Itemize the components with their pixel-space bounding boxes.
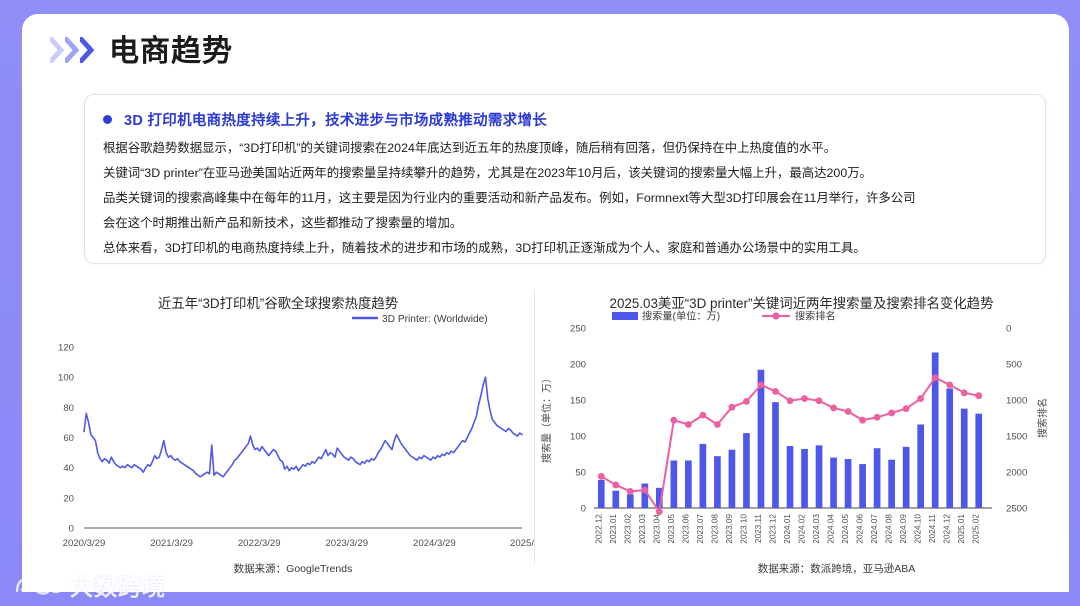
svg-text:2023.01: 2023.01 (609, 514, 618, 544)
insight-paragraph: 根据谷歌趋势数据显示，“3D打印机”的关键词搜索在2024年底达到近五年的热度顶… (103, 136, 1029, 161)
svg-text:2023.06: 2023.06 (681, 514, 690, 544)
triple-chevron-right-icon (50, 37, 95, 63)
bullet-dot-icon (103, 115, 112, 124)
svg-text:2023.04: 2023.04 (652, 514, 661, 544)
svg-text:2023.09: 2023.09 (725, 514, 734, 544)
svg-text:2023.10: 2023.10 (739, 514, 748, 544)
svg-text:1500: 1500 (1006, 432, 1027, 443)
svg-text:60: 60 (63, 433, 74, 444)
amazon-aba-combo-chart: 2025.03美亚“3D printer”关键词近两年搜索量及搜索排名变化趋势 … (534, 272, 1069, 592)
svg-text:40: 40 (63, 463, 74, 474)
svg-text:2025.01: 2025.01 (957, 514, 966, 544)
svg-text:2023.02: 2023.02 (623, 514, 632, 544)
svg-text:3D Printer: (Worldwide): 3D Printer: (Worldwide) (382, 314, 488, 325)
svg-text:1000: 1000 (1006, 396, 1027, 407)
content-card: 电商趋势 3D 打印机电商热度持续上升，技术进步与市场成熟推动需求增长 根据谷歌… (22, 14, 1069, 592)
svg-text:搜索排名: 搜索排名 (1036, 398, 1049, 438)
svg-text:2023.08: 2023.08 (710, 514, 719, 544)
svg-text:100: 100 (570, 432, 586, 443)
svg-text:搜索量(单位：万): 搜索量(单位：万) (642, 310, 720, 323)
insight-paragraph: 关键词“3D printer”在亚马逊美国站近两年的搜索量呈持续攀升的趋势，尤其… (103, 161, 1029, 186)
svg-text:0: 0 (1006, 324, 1011, 335)
insight-heading-row: 3D 打印机电商热度持续上升，技术进步与市场成熟推动需求增长 (103, 109, 1029, 130)
svg-text:80: 80 (63, 403, 74, 414)
svg-text:2022/3/29: 2022/3/29 (238, 538, 281, 549)
svg-text:200: 200 (570, 360, 586, 371)
svg-text:2023/3/29: 2023/3/29 (325, 538, 368, 549)
svg-text:100: 100 (58, 373, 74, 384)
right-chart-source: 数据来源：数派跨境，亚马逊ABA (534, 561, 1069, 576)
svg-text:2024.02: 2024.02 (798, 514, 807, 544)
svg-text:2500: 2500 (1006, 504, 1027, 515)
svg-text:2025.02: 2025.02 (972, 514, 981, 544)
svg-text:2020/3/29: 2020/3/29 (63, 538, 106, 549)
left-chart-canvas: 0204060801001202020/3/292021/3/292022/3/… (22, 306, 534, 586)
svg-text:20: 20 (63, 493, 74, 504)
logo-icon (12, 570, 64, 600)
google-trends-line-chart: 近五年“3D打印机”谷歌全球搜索热度趋势 0204060801001202020… (22, 272, 534, 592)
svg-text:0: 0 (581, 504, 586, 515)
svg-text:2024.10: 2024.10 (914, 514, 923, 544)
svg-text:2024/3/29: 2024/3/29 (413, 538, 456, 549)
charts-region: 近五年“3D打印机”谷歌全球搜索热度趋势 0204060801001202020… (22, 272, 1069, 592)
svg-text:2024.03: 2024.03 (812, 514, 821, 544)
svg-text:2021/3/29: 2021/3/29 (150, 538, 193, 549)
insight-paragraph: 品类关键词的搜索高峰集中在每年的11月，这主要是因为行业内的重要活动和新产品发布… (103, 186, 1029, 211)
page-title: 电商趋势 (109, 26, 233, 70)
svg-text:2024.09: 2024.09 (899, 514, 908, 544)
svg-text:2023.07: 2023.07 (696, 514, 705, 544)
svg-text:2023.11: 2023.11 (754, 514, 763, 543)
svg-text:2023.03: 2023.03 (638, 514, 647, 544)
insight-paragraph: 总体来看，3D打印机的电商热度持续上升，随着技术的进步和市场的成熟，3D打印机正… (103, 236, 1029, 261)
svg-text:2023.12: 2023.12 (769, 514, 778, 544)
svg-text:2000: 2000 (1006, 468, 1027, 479)
svg-text:50: 50 (575, 468, 586, 479)
insight-paragraph: 会在这个时期推出新产品和新技术，这些都推动了搜索量的增加。 (103, 211, 1029, 236)
svg-text:120: 120 (58, 343, 74, 354)
right-chart-canvas: 05010015020025005001000150020002500搜索量（单… (534, 306, 1069, 592)
svg-text:搜索量（单位：万）: 搜索量（单位：万） (540, 373, 553, 463)
svg-text:2024.08: 2024.08 (885, 514, 894, 544)
svg-text:2023.05: 2023.05 (667, 514, 676, 544)
watermark-text: 大数跨境 (70, 568, 166, 602)
svg-text:搜索排名: 搜索排名 (795, 310, 836, 323)
insight-panel: 3D 打印机电商热度持续上升，技术进步与市场成熟推动需求增长 根据谷歌趋势数据显… (84, 94, 1046, 264)
svg-text:250: 250 (570, 324, 586, 335)
page-header: 电商趋势 (22, 14, 1069, 82)
svg-text:2024.04: 2024.04 (827, 514, 836, 544)
insight-heading: 3D 打印机电商热度持续上升，技术进步与市场成熟推动需求增长 (124, 109, 547, 130)
svg-text:500: 500 (1006, 360, 1022, 371)
svg-text:2024.06: 2024.06 (856, 514, 865, 544)
svg-text:2022.12: 2022.12 (594, 514, 603, 544)
svg-text:2024.11: 2024.11 (928, 514, 937, 543)
svg-text:2024.05: 2024.05 (841, 514, 850, 544)
svg-text:0: 0 (69, 524, 74, 535)
svg-text:2025/: 2025/ (510, 538, 534, 549)
svg-text:150: 150 (570, 396, 586, 407)
slide-page: 电商趋势 3D 打印机电商热度持续上升，技术进步与市场成熟推动需求增长 根据谷歌… (0, 0, 1080, 606)
watermark: 大数跨境 (12, 568, 166, 602)
svg-text:2024.01: 2024.01 (783, 514, 792, 544)
svg-text:2024.07: 2024.07 (870, 514, 879, 544)
svg-text:2024.12: 2024.12 (943, 514, 952, 544)
